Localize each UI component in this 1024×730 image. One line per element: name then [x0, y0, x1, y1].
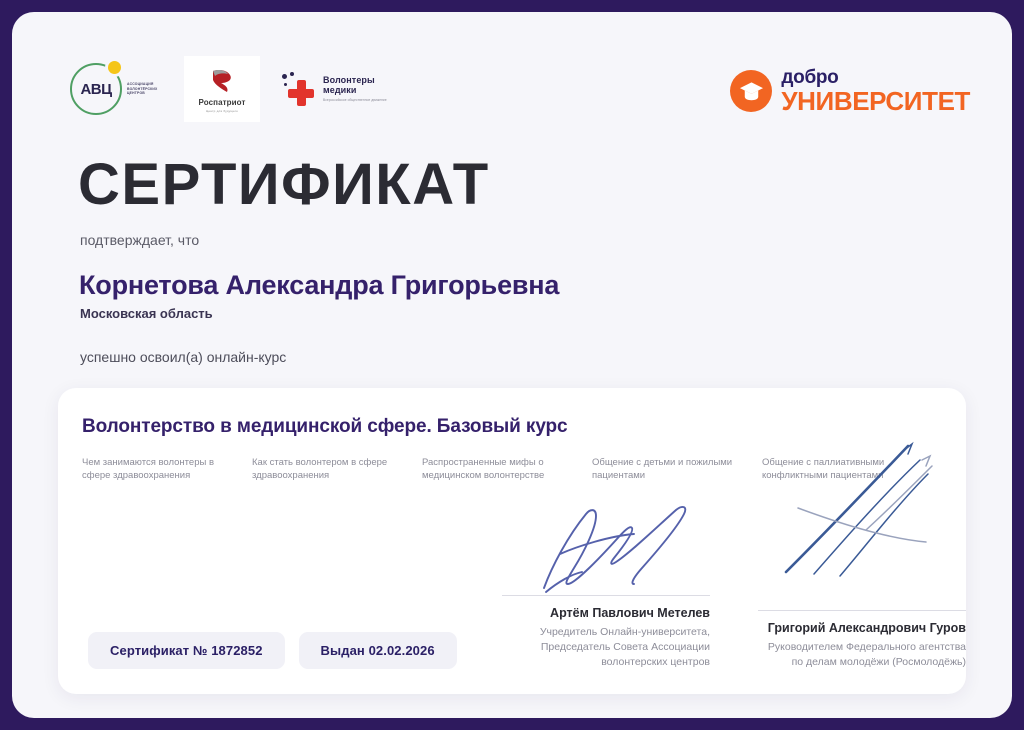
completed-line: успешно освоил(а) онлайн-курс	[80, 349, 286, 365]
rospatriot-logo: Роспатриот Центр для будущего	[184, 56, 260, 122]
dobro-bottom-word: УНИВЕРСИТЕТ	[781, 88, 970, 114]
rospatriot-logo-title: Роспатриот	[199, 98, 246, 107]
dot-decoration	[284, 83, 287, 86]
rospatriot-logo-subtitle: Центр для будущего	[206, 109, 238, 113]
certificate-sheet: АВЦ АССОЦИАЦИЯ ВОЛОНТЁРСКИХ ЦЕНТРОВ Росп…	[12, 12, 1012, 718]
certificate-meta-pills: Сертификат № 1872852 Выдан 02.02.2026	[88, 632, 457, 669]
signature-block-gurov: Григорий Александрович Гуров Руководител…	[758, 610, 966, 670]
signatory-name: Артём Павлович Метелев	[502, 605, 710, 621]
signature-rule	[502, 595, 710, 596]
course-module-list: Чем занимаются волонтеры в сфере здравоо…	[82, 456, 944, 482]
course-module: Общение с детьми и пожилыми пациентами	[592, 456, 750, 482]
course-card: Волонтерство в медицинской сфере. Базовы…	[58, 388, 966, 694]
dobro-universitet-logo: добро УНИВЕРСИТЕТ	[730, 68, 970, 114]
vm-subtitle: Всероссийское общественное движение	[323, 98, 387, 102]
avc-logo: АВЦ АССОЦИАЦИЯ ВОЛОНТЁРСКИХ ЦЕНТРОВ	[70, 61, 170, 117]
cross-shape	[288, 80, 314, 106]
dobro-wordmark: добро УНИВЕРСИТЕТ	[781, 68, 970, 114]
dobro-badge-icon	[730, 70, 772, 112]
certificate-number-badge: Сертификат № 1872852	[88, 632, 285, 669]
course-module: Чем занимаются волонтеры в сфере здравоо…	[82, 456, 240, 482]
signature-rule	[758, 610, 966, 611]
volonteri-mediki-logo: Волонтеры медики Всероссийское обществен…	[282, 66, 387, 112]
issue-date-badge: Выдан 02.02.2026	[299, 632, 457, 669]
avc-logo-abbr: АВЦ	[80, 81, 111, 98]
medical-cross-icon	[282, 72, 318, 106]
confirm-line: подтверждает, что	[80, 232, 199, 248]
course-title: Волонтерство в медицинской сфере. Базовы…	[82, 416, 568, 438]
rospatriot-mark-icon	[207, 68, 237, 94]
avc-logo-caption: АССОЦИАЦИЯ ВОЛОНТЁРСКИХ ЦЕНТРОВ	[127, 82, 169, 95]
avc-ring-icon: АВЦ	[70, 63, 122, 115]
course-module: Общение с паллиативными конфликтными пац…	[762, 456, 920, 482]
dot-decoration	[282, 74, 287, 79]
course-module: Как стать волонтером в сфере здравоохран…	[252, 456, 410, 482]
recipient-region: Московская область	[80, 306, 213, 321]
dot-decoration	[290, 72, 294, 76]
signature-block-metelev: Артём Павлович Метелев Учредитель Онлайн…	[502, 595, 710, 670]
signature-mark-metelev	[538, 496, 703, 596]
page-title: СЕРТИФИКАТ	[78, 155, 490, 215]
recipient-name: Корнетова Александра Григорьевна	[79, 270, 559, 301]
dobro-top-word: добро	[781, 68, 970, 87]
graduation-cap-icon	[739, 80, 764, 102]
signatory-role: Руководителем Федерального агентства по …	[758, 640, 966, 670]
course-module: Распространенные мифы о медицинском воло…	[422, 456, 580, 482]
signatory-name: Григорий Александрович Гуров	[758, 620, 966, 636]
volonteri-mediki-wordmark: Волонтеры медики Всероссийское обществен…	[323, 75, 387, 102]
vm-title-line-2: медики	[323, 85, 387, 95]
vm-title-line-1: Волонтеры	[323, 75, 387, 85]
partner-logo-bar: АВЦ АССОЦИАЦИЯ ВОЛОНТЁРСКИХ ЦЕНТРОВ Росп…	[70, 58, 387, 120]
signatory-role: Учредитель Онлайн-университета, Председа…	[502, 625, 710, 670]
